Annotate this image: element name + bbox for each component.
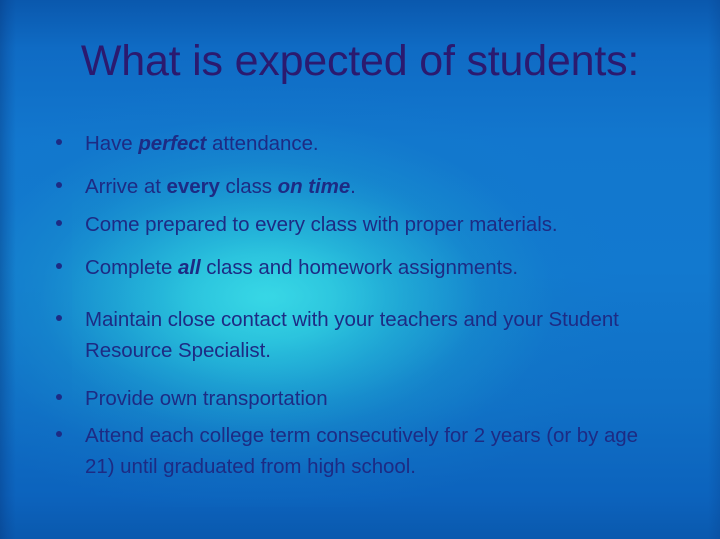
- bullet-text-run: class: [220, 175, 278, 198]
- bullet-text-run: on time: [278, 175, 351, 198]
- bullet-dot-icon: [56, 139, 62, 145]
- bullet-text-run: .: [350, 175, 356, 198]
- slide-title: What is expected of students:: [0, 36, 720, 86]
- bullet-text: Provide own transportation: [85, 387, 328, 410]
- bullet-text-run: all: [178, 256, 201, 279]
- bullet-arrive-on-time: Arrive at every class on time.: [48, 171, 680, 202]
- bullet-attend-college-terms: Attend each college term consecutively f…: [48, 420, 648, 482]
- slide-content: What is expected of students: Have perfe…: [0, 0, 720, 539]
- bullet-maintain-contact: Maintain close contact with your teacher…: [48, 304, 664, 366]
- bullet-text-run: attendance.: [206, 132, 318, 155]
- presentation-slide: What is expected of students: Have perfe…: [0, 0, 720, 539]
- bullet-list: Have perfect attendance.Arrive at every …: [48, 128, 680, 482]
- bullet-dot-icon: [56, 315, 62, 321]
- bullet-perfect-attendance: Have perfect attendance.: [48, 128, 680, 159]
- bullet-text: Complete all class and homework assignme…: [85, 256, 518, 279]
- bullet-text: Come prepared to every class with proper…: [85, 213, 558, 236]
- bullet-dot-icon: [56, 182, 62, 188]
- bullet-text: Arrive at every class on time.: [85, 175, 356, 198]
- bullet-text: Attend each college term consecutively f…: [85, 424, 638, 478]
- bullet-text: Maintain close contact with your teacher…: [85, 308, 619, 362]
- bullet-dot-icon: [56, 220, 62, 226]
- bullet-text-run: class and homework assignments.: [201, 256, 518, 279]
- bullet-text-run: Complete: [85, 256, 178, 279]
- bullet-dot-icon: [56, 394, 62, 400]
- bullet-text-run: Attend each college term consecutively f…: [85, 424, 638, 478]
- bullet-text-run: Provide own transportation: [85, 387, 328, 410]
- bullet-own-transportation: Provide own transportation: [48, 383, 680, 414]
- bullet-text-run: Arrive at: [85, 175, 167, 198]
- bullet-text-run: Maintain close contact with your teacher…: [85, 308, 619, 362]
- bullet-text-run: Have: [85, 132, 138, 155]
- bullet-text: Have perfect attendance.: [85, 132, 319, 155]
- bullet-proper-materials: Come prepared to every class with proper…: [48, 209, 680, 240]
- bullet-text-run: Come prepared to every class with proper…: [85, 213, 558, 236]
- bullet-text-run: every: [167, 175, 220, 198]
- bullet-dot-icon: [56, 431, 62, 437]
- bullet-complete-assignments: Complete all class and homework assignme…: [48, 252, 680, 283]
- bullet-dot-icon: [56, 263, 62, 269]
- bullet-text-run: perfect: [138, 132, 206, 155]
